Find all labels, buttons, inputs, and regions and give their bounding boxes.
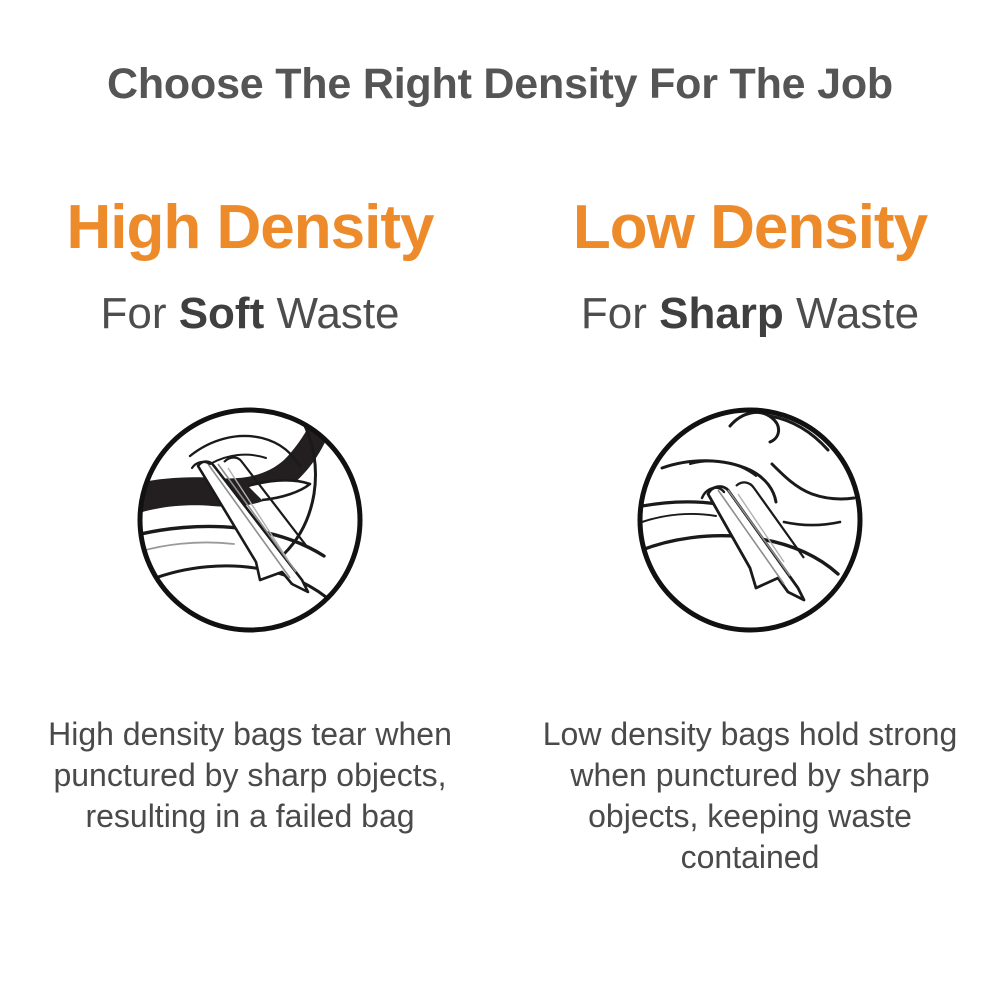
torn-bag-circle-icon	[132, 402, 368, 638]
intact-bag-circle-icon	[632, 402, 868, 638]
subheading-emphasis: Sharp	[659, 289, 784, 338]
comparison-columns: High Density For Soft Waste	[0, 190, 1000, 878]
density-heading-low: Low Density	[573, 190, 927, 266]
subheading-prefix: For	[100, 289, 178, 338]
subheading-prefix: For	[581, 289, 659, 338]
page-title: Choose The Right Density For The Job	[0, 60, 1000, 109]
density-subheading-high: For Soft Waste	[100, 292, 399, 336]
illustration-low-density	[632, 402, 868, 638]
subheading-suffix: Waste	[264, 289, 399, 338]
caption-low-density: Low density bags hold strong when punctu…	[520, 714, 980, 878]
density-comparison-infographic: Choose The Right Density For The Job Hig…	[0, 0, 1000, 1000]
column-low-density: Low Density For Sharp Waste	[500, 190, 1000, 878]
density-heading-high: High Density	[67, 190, 434, 266]
density-subheading-low: For Sharp Waste	[581, 292, 919, 336]
column-high-density: High Density For Soft Waste	[0, 190, 500, 878]
illustration-high-density	[132, 402, 368, 638]
subheading-suffix: Waste	[784, 289, 919, 338]
subheading-emphasis: Soft	[179, 289, 265, 338]
caption-high-density: High density bags tear when punctured by…	[20, 714, 480, 837]
